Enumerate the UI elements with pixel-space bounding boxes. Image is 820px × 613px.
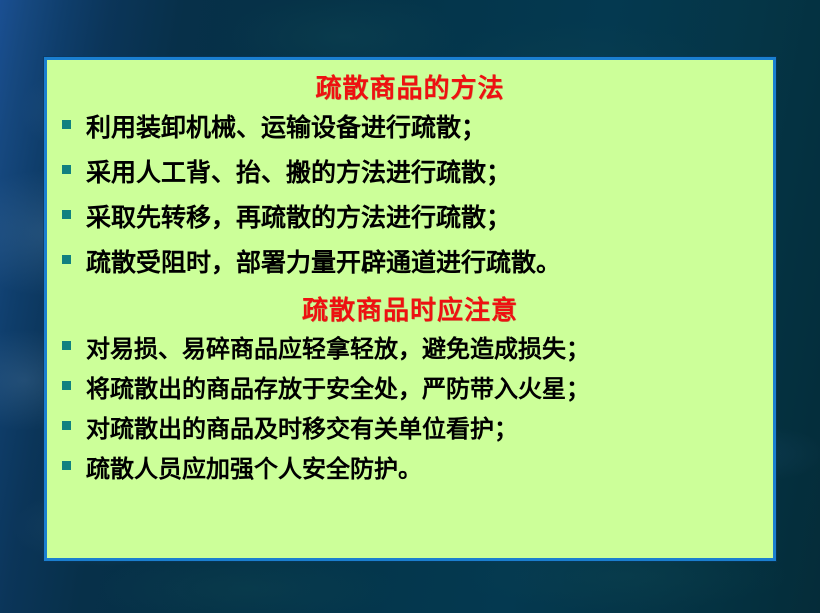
square-bullet-icon <box>62 120 71 129</box>
bullet-list-evacuation-cautions: 对易损、易碎商品应轻拿轻放，避免造成损失； 将疏散出的商品存放于安全处，严防带入… <box>57 330 763 490</box>
list-item-label: 采取先转移，再疏散的方法进行疏散； <box>86 198 763 238</box>
square-bullet-icon <box>62 421 71 430</box>
list-item: 采取先转移，再疏散的方法进行疏散； <box>57 198 763 243</box>
content-panel-inner: 疏散商品的方法 利用装卸机械、运输设备进行疏散； 采用人工背、抬、搬的方法进行疏… <box>47 60 773 558</box>
list-item-label: 对疏散出的商品及时移交有关单位看护； <box>86 410 763 448</box>
list-item-label: 采用人工背、抬、搬的方法进行疏散； <box>86 153 763 193</box>
section-heading-evacuation-methods: 疏散商品的方法 <box>57 72 763 106</box>
list-item: 采用人工背、抬、搬的方法进行疏散； <box>57 153 763 198</box>
section-heading-evacuation-cautions: 疏散商品时应注意 <box>57 294 763 328</box>
square-bullet-icon <box>62 255 71 264</box>
content-panel: 疏散商品的方法 利用装卸机械、运输设备进行疏散； 采用人工背、抬、搬的方法进行疏… <box>44 57 776 561</box>
slide-background: 疏散商品的方法 利用装卸机械、运输设备进行疏散； 采用人工背、抬、搬的方法进行疏… <box>0 0 820 613</box>
list-item-label: 将疏散出的商品存放于安全处，严防带入火星； <box>86 370 763 408</box>
list-item: 对疏散出的商品及时移交有关单位看护； <box>57 410 763 450</box>
bullet-list-evacuation-methods: 利用装卸机械、运输设备进行疏散； 采用人工背、抬、搬的方法进行疏散； 采取先转移… <box>57 108 763 288</box>
list-item: 将疏散出的商品存放于安全处，严防带入火星； <box>57 370 763 410</box>
square-bullet-icon <box>62 210 71 219</box>
list-item: 疏散受阻时，部署力量开辟通道进行疏散。 <box>57 243 763 288</box>
square-bullet-icon <box>62 341 71 350</box>
list-item-label: 利用装卸机械、运输设备进行疏散； <box>86 108 763 148</box>
square-bullet-icon <box>62 381 71 390</box>
list-item: 对易损、易碎商品应轻拿轻放，避免造成损失； <box>57 330 763 370</box>
list-item-label: 疏散受阻时，部署力量开辟通道进行疏散。 <box>86 243 763 283</box>
list-item-label: 疏散人员应加强个人安全防护。 <box>86 450 763 488</box>
square-bullet-icon <box>62 165 71 174</box>
list-item: 疏散人员应加强个人安全防护。 <box>57 450 763 490</box>
list-item-label: 对易损、易碎商品应轻拿轻放，避免造成损失； <box>86 330 763 368</box>
square-bullet-icon <box>62 461 71 470</box>
list-item: 利用装卸机械、运输设备进行疏散； <box>57 108 763 153</box>
